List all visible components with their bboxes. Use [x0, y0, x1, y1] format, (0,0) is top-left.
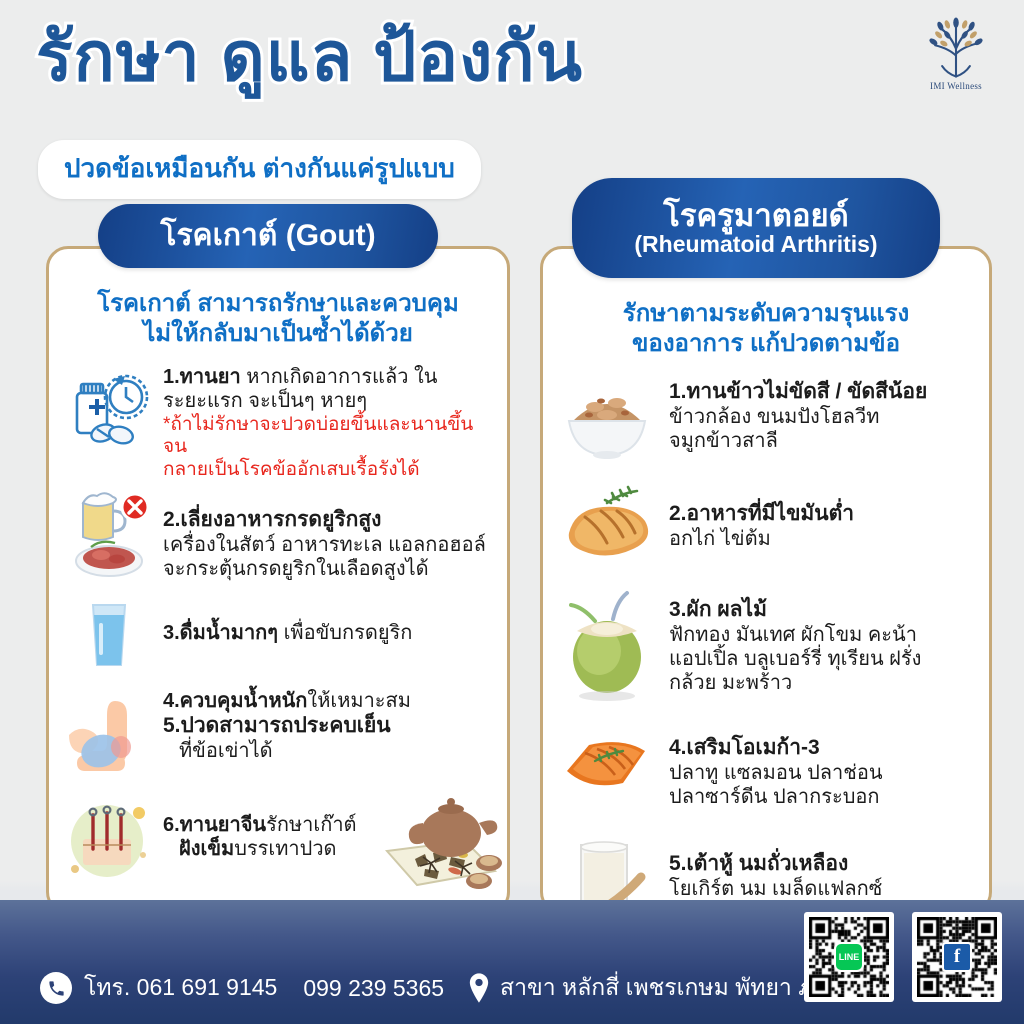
item-line3: จมูกข้าวสาลี: [669, 429, 981, 453]
item-heading: 6.ทานยาจีน: [163, 814, 266, 836]
item-warning-1: *ถ้าไม่รักษาจะปวดบ่อยขึ้นและนานขึ้นจน: [163, 414, 497, 459]
gout-intro: โรคเกาต์ สามารถรักษาและควบคุม ไม่ให้กลับ…: [69, 289, 487, 349]
list-item: 3.ผัก ผลไม้ ฟักทอง มันเทศ ผักโขม คะน้า แ…: [543, 587, 989, 711]
list-item-text: 3.ผัก ผลไม้ ฟักทอง มันเทศ ผักโขม คะน้า แ…: [665, 587, 989, 696]
item-heading-2-rest: บรรเทาปวด: [234, 838, 336, 860]
rheumatoid-card: รักษาตามระดับความรุนแรง ของอาการ แก้ปวดต…: [540, 246, 992, 914]
gout-card: โรคเกาต์ สามารถรักษาและควบคุม ไม่ให้กลับ…: [46, 246, 510, 914]
line-logo-icon: LINE: [834, 942, 864, 972]
gout-item-list: 1.ทานยา หากเกิดอาการแล้ว ใน ระยะแรก จะเป…: [49, 361, 507, 913]
weight-scale-icon: [63, 677, 159, 678]
item-heading: 2.เลี่ยงอาหารกรดยูริกสูง: [163, 507, 497, 533]
brand-logo: IMI Wellness: [910, 14, 1002, 106]
branch-list: สาขา หลักสี่ เพชรเกษม พัทยา ภูเก็ต: [500, 970, 850, 1006]
item-heading: 1.ทานข้าวไม่ขัดสี / ขัดสีน้อย: [669, 379, 981, 405]
grilled-chicken-breast-icon: [555, 485, 665, 574]
item-line2: ที่ข้อเข่าได้: [163, 739, 497, 763]
phone-icon: [40, 972, 72, 1004]
rheumatoid-badge-label: โรครูมาตอยด์: [663, 199, 849, 232]
item-heading: 1.ทานยา: [163, 366, 241, 388]
qr-code-line[interactable]: LINE: [804, 912, 894, 1002]
water-glass-icon: [63, 599, 159, 676]
list-item-text: 4.เสริมโอเมก้า-3 ปลาทู แซลมอน ปลาช่อน ปล…: [665, 721, 989, 809]
facebook-logo-icon: f: [942, 942, 972, 972]
gout-intro-line1: โรคเกาต์ สามารถรักษาและควบคุม: [69, 289, 487, 319]
subtitle-pill: ปวดข้อเหมือนกัน ต่างกันแค่รูปแบบ: [38, 140, 481, 199]
footer-bar: โทร. 061 691 9145 099 239 5365 สาขา หลัก…: [0, 900, 1024, 1024]
list-item: 1.ทานข้าวไม่ขัดสี / ขัดสีน้อย ข้าวกล้อง …: [543, 371, 989, 475]
list-item-text: 5.ปวดสามารถประคบเย็น ที่ข้อเข่าได้: [159, 695, 507, 763]
cold-compress-foot-icon: [63, 695, 159, 796]
rheumatoid-badge: โรครูมาตอยด์ (Rheumatoid Arthritis): [572, 178, 940, 278]
item-heading-rest: เพื่อขับกรดยูริก: [278, 622, 412, 644]
acupuncture-needles-icon: [63, 797, 159, 898]
brown-rice-bowl-icon: [555, 371, 665, 472]
ra-intro: รักษาตามระดับความรุนแรง ของอาการ แก้ปวดต…: [561, 299, 971, 359]
meat-plate: [76, 542, 142, 576]
tree-icon: [921, 14, 991, 80]
item-heading-rest: หากเกิดอาการแล้ว ใน: [241, 366, 438, 388]
item-line3: จะกระตุ้นกรดยูริกในเลือดสูงได้: [163, 557, 497, 581]
footer-contact-row: โทร. 061 691 9145 099 239 5365 สาขา หลัก…: [40, 970, 850, 1006]
medicine-bottle-clock-icon: [63, 361, 159, 458]
phone-number-primary[interactable]: โทร. 061 691 9145: [84, 970, 277, 1006]
list-item-text: 2.อาหารที่มีไขมันต่ำ อกไก่ ไข่ต้ม: [665, 485, 989, 551]
ra-item-list: 1.ทานข้าวไม่ขัดสี / ขัดสีน้อย ข้าวกล้อง …: [543, 371, 989, 949]
ra-intro-line2: ของอาการ แก้ปวดตามข้อ: [561, 329, 971, 359]
item-heading-2: ฝังเข็ม: [179, 838, 234, 860]
chinese-teapot-herbs-icon: [371, 793, 511, 908]
item-heading: 2.อาหารที่มีไขมันต่ำ: [669, 501, 981, 527]
location-pin-icon: [468, 973, 490, 1003]
item-line4: กล้วย มะพร้าว: [669, 671, 981, 695]
item-line2: อกไก่ ไข่ต้ม: [669, 527, 981, 551]
list-item-text: 1.ทานข้าวไม่ขัดสี / ขัดสีน้อย ข้าวกล้อง …: [665, 371, 989, 453]
list-item-text: 1.ทานยา หากเกิดอาการแล้ว ใน ระยะแรก จะเป…: [159, 361, 507, 481]
item-line2: ระยะแรก จะเป็นๆ หายๆ: [163, 389, 497, 413]
item-heading-rest: รักษาเก๊าต์: [266, 814, 356, 836]
list-item: 5.ปวดสามารถประคบเย็น ที่ข้อเข่าได้: [49, 695, 507, 791]
list-item: 3.ดื่มน้ำมากๆ เพื่อขับกรดยูริก: [49, 599, 507, 671]
rheumatoid-badge-sublabel: (Rheumatoid Arthritis): [634, 232, 877, 257]
list-item-text: 2.เลี่ยงอาหารกรดยูริกสูง เครื่องในสัตว์ …: [159, 485, 507, 581]
item-line2: ฟักทอง มันเทศ ผักโขม คะน้า: [669, 623, 981, 647]
item-heading: 4.เสริมโอเมก้า-3: [669, 735, 981, 761]
item-line3: แอปเปิ้ล บลูเบอร์รี่ ทุเรียน ฝรั่ง: [669, 647, 981, 671]
item-line2: เครื่องในสัตว์ อาหารทะเล แอลกอฮอล์: [163, 533, 497, 557]
beer-meat-forbidden-icon: [63, 485, 159, 590]
forbidden-badge: [122, 494, 148, 520]
item-heading: 3.ดื่มน้ำมากๆ: [163, 622, 278, 644]
item-heading: 3.ผัก ผลไม้: [669, 597, 981, 623]
item-line3: ปลาซาร์ดีน ปลากระบอก: [669, 785, 981, 809]
qr-code-group: LINE f: [804, 912, 1002, 1002]
list-item: 6.ทานยาจีนรักษาเก๊าต์ ฝังเข็มบรรเทาปวด: [49, 797, 507, 907]
infographic-poster: รักษา ดูแล ป้องกัน ปวดข้อเหมือนกัน ต่างก…: [0, 0, 1024, 1024]
item-heading: 5.ปวดสามารถประคบเย็น: [163, 713, 497, 739]
phone-number-secondary[interactable]: 099 239 5365: [303, 975, 444, 1002]
beer-mug: [83, 493, 125, 540]
list-item: 1.ทานยา หากเกิดอาการแล้ว ใน ระยะแรก จะเป…: [49, 361, 507, 479]
item-line2: ปลาทู แซลมอน ปลาช่อน: [669, 761, 981, 785]
list-item-text: 3.ดื่มน้ำมากๆ เพื่อขับกรดยูริก: [159, 599, 507, 645]
list-item: 2.เลี่ยงอาหารกรดยูริกสูง เครื่องในสัตว์ …: [49, 485, 507, 593]
qr-code-facebook[interactable]: f: [912, 912, 1002, 1002]
list-item: 2.อาหารที่มีไขมันต่ำ อกไก่ ไข่ต้ม: [543, 485, 989, 577]
item-line2: ข้าวกล้อง ขนมปังโฮลวีท: [669, 405, 981, 429]
list-item: 4.เสริมโอเมก้า-3 ปลาทู แซลมอน ปลาช่อน ปล…: [543, 721, 989, 819]
gout-badge-label: โรคเกาต์ (Gout): [160, 221, 375, 251]
ra-intro-line1: รักษาตามระดับความรุนแรง: [561, 299, 971, 329]
logo-text: IMI Wellness: [930, 81, 982, 91]
gout-intro-line2: ไม่ให้กลับมาเป็นซ้ำได้ด้วย: [69, 319, 487, 349]
salmon-fillet-icon: [555, 721, 665, 814]
item-heading: 5.เต้าหู้ นมถั่วเหลือง: [669, 851, 981, 877]
item-warning-2: กลายเป็นโรคข้ออักเสบเรื้อรังได้: [163, 459, 497, 481]
young-coconut-icon: [555, 587, 665, 708]
item-line2: โยเกิร์ต นม เมล็ดแฟลกซ์: [669, 877, 981, 901]
page-title: รักษา ดูแล ป้องกัน: [36, 22, 583, 93]
gout-badge: โรคเกาต์ (Gout): [98, 204, 438, 268]
